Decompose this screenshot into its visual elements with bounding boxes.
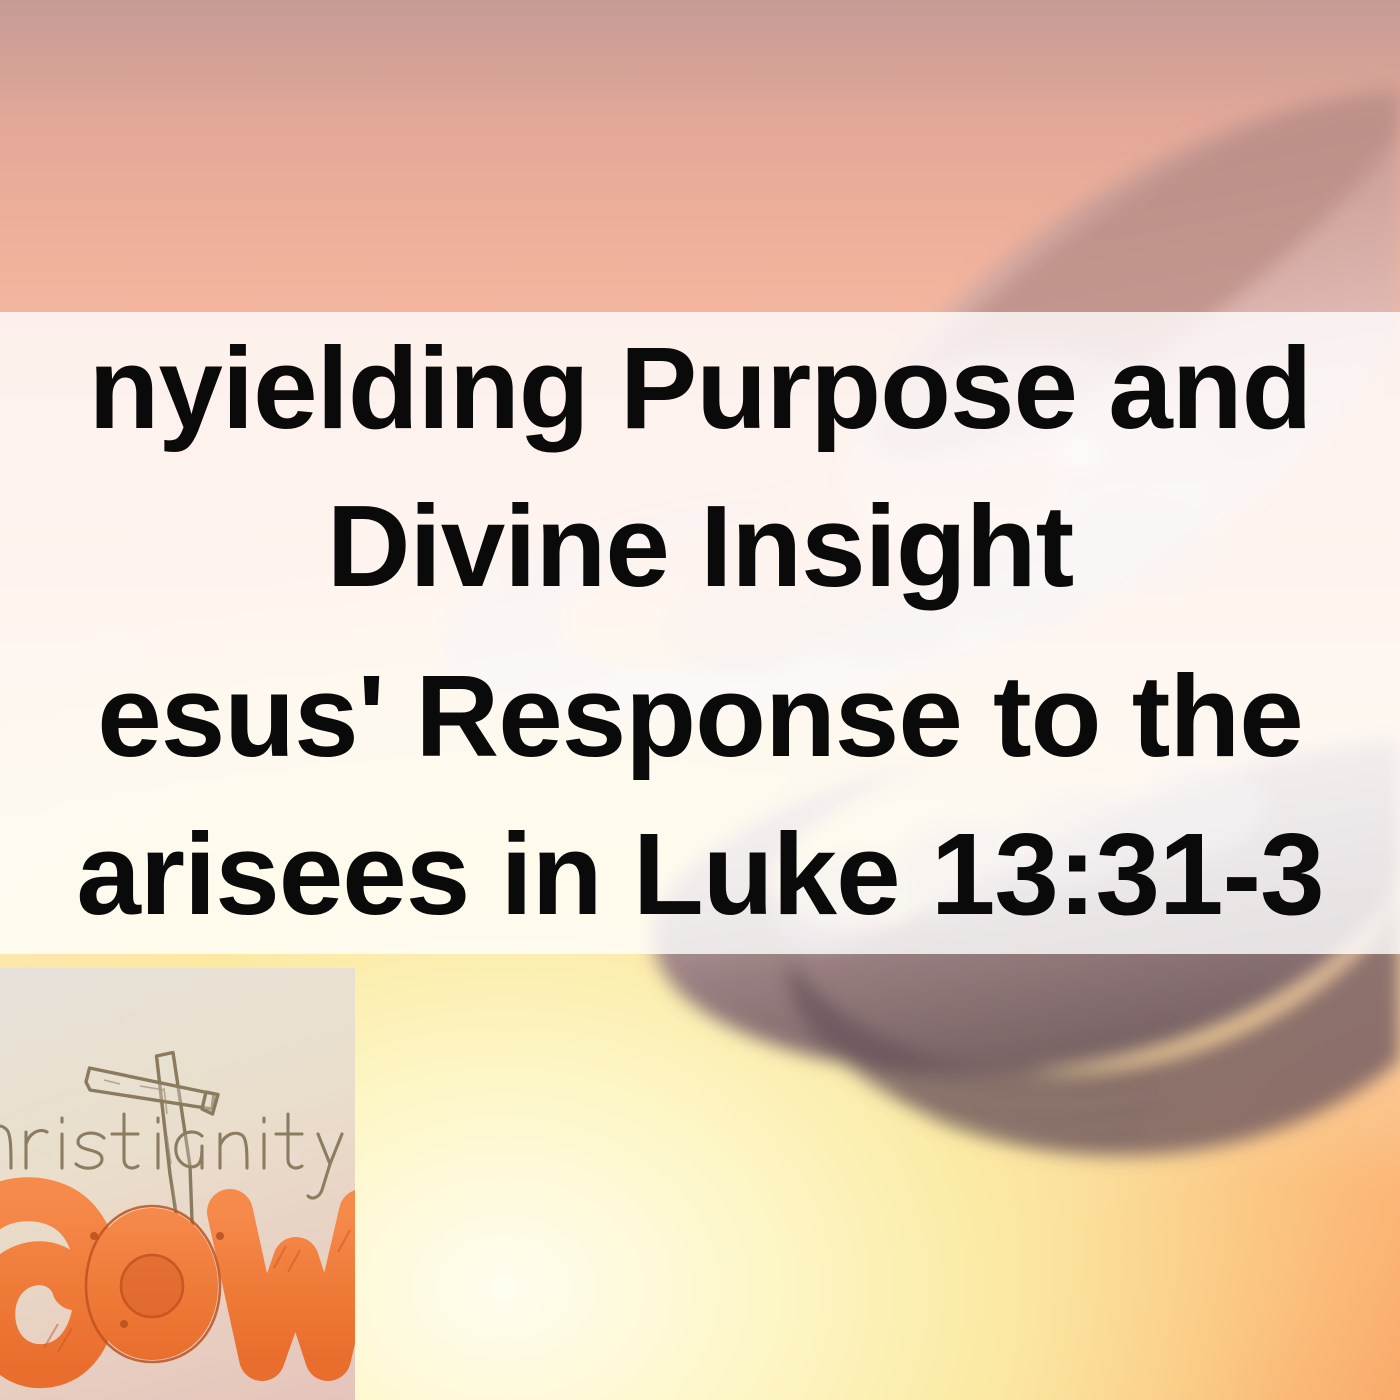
title-line-2: Divine Insight (327, 488, 1074, 604)
palm-crease-lines (880, 1060, 1160, 1140)
episode-title: nyielding Purpose and Divine Insight esu… (0, 312, 1400, 954)
title-line-3: esus' Response to the (97, 658, 1303, 774)
channel-logo[interactable] (0, 968, 355, 1400)
title-line-4: arisees in Luke 13:31-3 (76, 816, 1323, 932)
logo-artwork (0, 968, 355, 1400)
title-line-1: nyielding Purpose and (89, 330, 1312, 446)
logo-now-word (0, 1199, 355, 1366)
podcast-cover-art: nyielding Purpose and Divine Insight esu… (0, 0, 1400, 1400)
